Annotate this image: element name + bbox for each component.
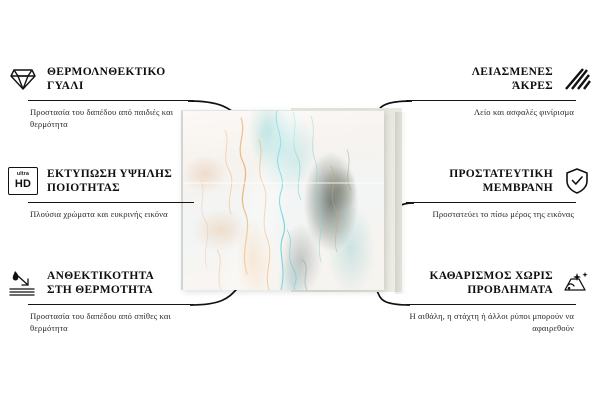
feature-divider [28,304,194,305]
glass-edge-highlight [181,110,384,290]
feature-high-quality-print: ultra HD ΕΚΤΥΠΩΣΗ ΥΨΗΛΗΣ ΠΟΙΟΤΗΤΑΣ Πλούσ… [8,164,194,220]
glass-splashback [181,110,384,290]
feature-header: ΑΝΘΕΚΤΙΚΟΤΗΤΑ ΣΤΗ ΘΕΡΜΟΤΗΤΑ [8,266,194,300]
diamond-icon [8,64,38,94]
feature-easy-cleaning: ΚΑΘΑΡΙΣΜΟΣ ΧΩΡΙΣ ΠΡΟΒΛΗΜΑΤΑ Η αιθάλη, η … [406,266,592,334]
feature-title: ΚΑΘΑΡΙΣΜΟΣ ΧΩΡΙΣ ΠΡΟΒΛΗΜΑΤΑ [429,269,553,298]
feature-description: Προστασία του δαπέδου από παιδιές και θε… [8,106,194,130]
easy-clean-sponge-icon [562,268,592,298]
feature-header: ΛΕΙΑΣΜΕΝΕΣ ΆΚΡΕΣ [406,62,592,96]
ultra-hd-badge-top: ultra [17,172,29,177]
feature-divider [406,304,576,305]
feature-title: ΕΚΤΥΠΩΣΗ ΥΨΗΛΗΣ ΠΟΙΟΤΗΤΑΣ [47,167,172,196]
product-infographic: ΘΕΡΜΟΛΝΘΕΚΤΙΚΟ ΓΥΑΛΙ Προστασία του δαπέδ… [0,0,600,400]
feature-description: Προστασία του δαπέδου από σπίθες και θερ… [8,310,194,334]
feature-thermal-glass: ΘΕΡΜΟΛΝΘΕΚΤΙΚΟ ΓΥΑΛΙ Προστασία του δαπέδ… [8,62,194,130]
feature-title: ΠΡΟΣΤΑΤΕΥΤΙΚΗ ΜΕΜΒΡΑΝΗ [449,167,553,196]
product-image [181,110,402,290]
ultra-hd-badge-bottom: HD [15,179,31,190]
feature-protective-membrane: ΠΡΟΣΤΑΤΕΥΤΙΚΗ ΜΕΜΒΡΑΝΗ Προστατεύει το πί… [406,164,592,220]
feature-header: ΘΕΡΜΟΛΝΘΕΚΤΙΚΟ ΓΥΑΛΙ [8,62,194,96]
feature-divider [28,100,194,101]
feature-header: ultra HD ΕΚΤΥΠΩΣΗ ΥΨΗΛΗΣ ΠΟΙΟΤΗΤΑΣ [8,164,194,198]
feature-polished-edges: ΛΕΙΑΣΜΕΝΕΣ ΆΚΡΕΣ Λείο και ασφαλές φινίρι… [406,62,592,118]
polished-edges-icon [562,64,592,94]
feature-description: Λείο και ασφαλές φινίρισμα [406,106,592,118]
shield-check-icon [562,166,592,196]
feature-header: ΚΑΘΑΡΙΣΜΟΣ ΧΩΡΙΣ ΠΡΟΒΛΗΜΑΤΑ [406,266,592,300]
feature-header: ΠΡΟΣΤΑΤΕΥΤΙΚΗ ΜΕΜΒΡΑΝΗ [406,164,592,198]
feature-description: Προστατεύει το πίσω μέρος της εικόνας [406,208,592,220]
feature-divider [406,100,576,101]
heat-resistance-icon [8,268,38,298]
feature-description: Η αιθάλη, η στάχτη ή άλλοι ρύποι μπορούν… [406,310,592,334]
feature-divider [28,202,194,203]
ultra-hd-badge-icon: ultra HD [8,166,38,196]
feature-title: ΑΝΘΕΚΤΙΚΟΤΗΤΑ ΣΤΗ ΘΕΡΜΟΤΗΤΑ [47,269,154,298]
feature-divider [406,202,576,203]
feature-title: ΘΕΡΜΟΛΝΘΕΚΤΙΚΟ ΓΥΑΛΙ [47,65,165,94]
feature-description: Πλούσια χρώματα και ευκρινής εικόνα [8,208,194,220]
feature-title: ΛΕΙΑΣΜΕΝΕΣ ΆΚΡΕΣ [472,65,553,94]
feature-heat-resistance: ΑΝΘΕΚΤΙΚΟΤΗΤΑ ΣΤΗ ΘΕΡΜΟΤΗΤΑ Προστασία το… [8,266,194,334]
